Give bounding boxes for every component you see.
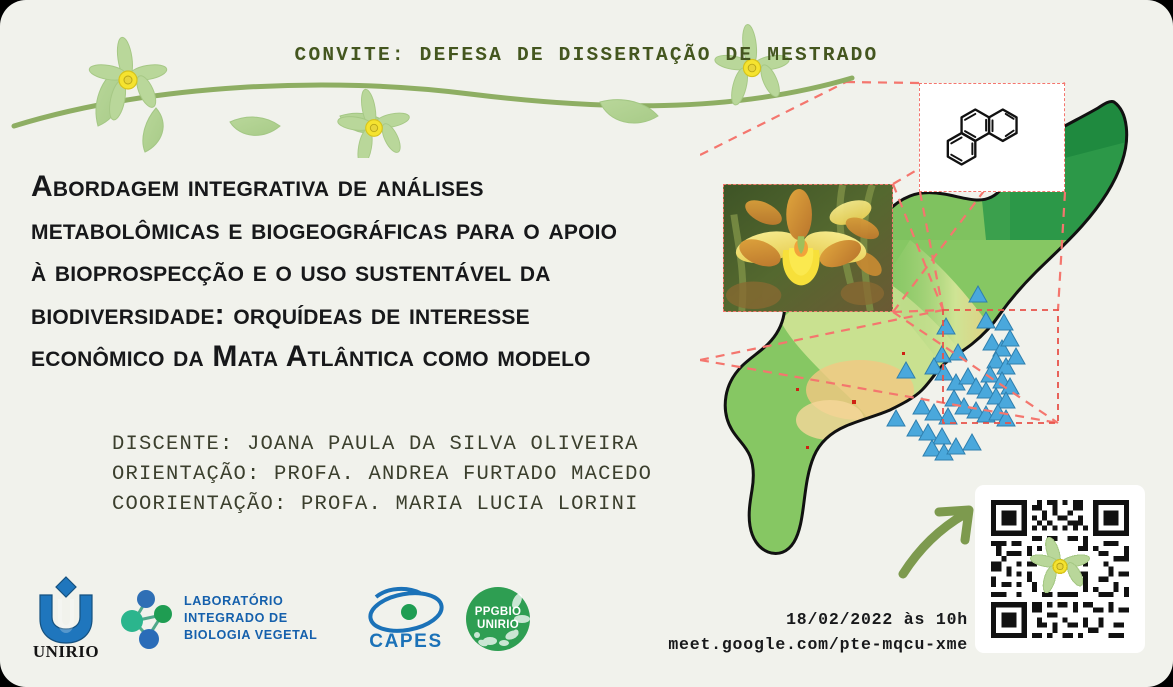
people-block: DISCENTE: JOANA PAULA DA SILVA OLIVEIRA … <box>112 430 652 520</box>
coadvisor-line: COORIENTAÇÃO: PROFA. MARIA LUCIA LORINI <box>112 490 652 520</box>
vine-orchid-flower <box>337 88 411 158</box>
page-title: Abordagem integrativa de análises metabo… <box>31 166 721 379</box>
qr-code-image[interactable] <box>986 495 1134 643</box>
qr-code[interactable] <box>975 485 1145 653</box>
arrow-to-qr-icon <box>895 500 985 580</box>
invitation-poster: CONVITE: DEFESA DE DISSERTAÇÃO DE MESTRA… <box>0 0 1173 687</box>
advisor-line: ORIENTAÇÃO: PROFA. ANDREA FURTADO MACEDO <box>112 460 652 490</box>
title-line-3: à bioprospecção e o uso sustentável da <box>31 251 721 294</box>
logo-unirio-label: UNIRIO <box>33 642 99 661</box>
logo-lab-line3: BIOLOGIA VEGETAL <box>184 628 317 642</box>
phenanthrene-structure <box>920 84 1064 191</box>
title-line-5: econômico da Mata Atlântica como modelo <box>31 336 721 379</box>
meeting-link[interactable]: meet.google.com/pte-mqcu-xme <box>588 632 968 657</box>
title-line-2: metabolômicas e biogeográficas para o ap… <box>31 209 721 252</box>
capes-eye-dot <box>401 604 417 620</box>
molecule-node <box>154 605 172 623</box>
orchid-vine-decoration <box>0 18 860 158</box>
phenanthrene-structure-box <box>919 83 1065 192</box>
logo-unirio: UNIRIO <box>33 577 99 661</box>
orchid-photo-image <box>724 185 892 311</box>
meeting-datetime: 18/02/2022 às 10h <box>588 607 968 632</box>
logo-lab-biologia-vegetal: LABORATÓRIO INTEGRADO DE BIOLOGIA VEGETA… <box>121 590 317 649</box>
logo-ppgbio-unirio: PPGBIO UNIRIO <box>466 587 530 651</box>
meeting-info: 18/02/2022 às 10h meet.google.com/pte-mq… <box>588 607 968 657</box>
student-line: DISCENTE: JOANA PAULA DA SILVA OLIVEIRA <box>112 430 652 460</box>
molecule-node <box>137 590 155 608</box>
logo-ppg-line1: PPGBIO <box>475 606 522 618</box>
molecule-node <box>121 610 143 632</box>
logo-capes-label: CAPES <box>369 631 442 652</box>
logos-row: UNIRIO LABORATÓRIO INTEGRADO DE BIOLOGIA… <box>28 575 548 663</box>
title-line-4: biodiversidade: orquídeas de interesse <box>31 294 721 337</box>
logo-ppg-line2: UNIRIO <box>477 619 519 631</box>
title-line-1: Abordagem integrativa de análises <box>31 166 721 209</box>
logo-lab-line2: INTEGRADO DE <box>184 611 288 625</box>
logo-lab-line1: LABORATÓRIO <box>184 593 283 608</box>
logo-capes: CAPES <box>367 588 444 652</box>
orchid-photo <box>723 184 893 312</box>
invite-header: CONVITE: DEFESA DE DISSERTAÇÃO DE MESTRA… <box>0 44 1173 66</box>
molecule-node <box>139 629 159 649</box>
